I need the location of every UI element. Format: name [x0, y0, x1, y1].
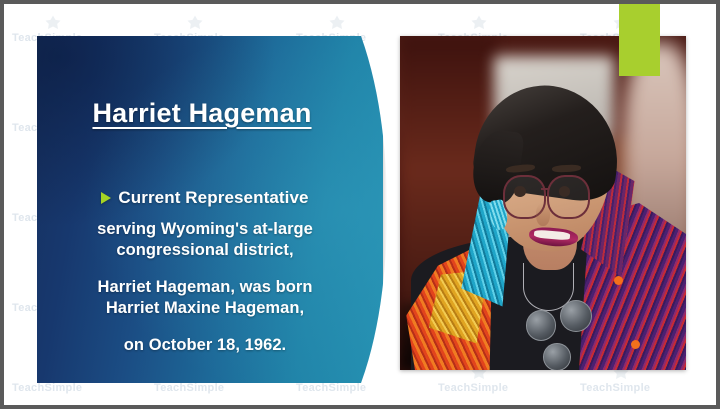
subject-nose: [536, 203, 550, 226]
watermark-text: TeachSimple: [438, 382, 508, 394]
subject-necklace-medallion: [526, 310, 557, 341]
paragraph-1: serving Wyoming's at-large congressional…: [37, 219, 373, 262]
subject-necklace-medallion: [543, 343, 571, 370]
info-panel: Harriet Hageman Current Representative s…: [37, 36, 383, 383]
paragraph-line: Harriet Maxine Hageman,: [43, 298, 367, 319]
photo-subject: [400, 36, 686, 370]
paragraph-line: Harriet Hageman, was born: [43, 277, 367, 298]
subject-eye-right: [559, 186, 570, 197]
watermark-text: TeachSimple: [12, 382, 82, 394]
bullet-label: Current Representative: [118, 188, 308, 208]
paragraph-2: Harriet Hageman, was born Harriet Maxine…: [37, 277, 373, 320]
watermark-logo-icon: [184, 14, 206, 34]
portrait-photo: [400, 36, 686, 370]
watermark-text: TeachSimple: [580, 382, 650, 394]
paragraph-line: on October 18, 1962.: [43, 335, 367, 356]
paragraph-line: congressional district,: [43, 240, 367, 261]
slide-frame: TeachSimpleTeachSimpleTeachSimpleTeachSi…: [0, 0, 720, 409]
bullet-line: Current Representative: [37, 188, 373, 208]
slide-canvas: TeachSimpleTeachSimpleTeachSimpleTeachSi…: [4, 4, 716, 405]
photo-inner: [400, 36, 686, 370]
watermark-text: TeachSimple: [296, 382, 366, 394]
watermark-text: TeachSimple: [154, 382, 224, 394]
watermark-logo-icon: [42, 14, 64, 34]
triangle-bullet-icon: [101, 192, 111, 204]
panel-content: Harriet Hageman Current Representative s…: [37, 36, 383, 383]
subject-eyeglass-lens-right: [547, 175, 590, 219]
paragraph-line: serving Wyoming's at-large: [43, 219, 367, 240]
watermark-logo-icon: [326, 14, 348, 34]
page-title: Harriet Hageman: [37, 98, 367, 129]
subject-eye-left: [514, 186, 525, 197]
paragraph-3: on October 18, 1962.: [37, 335, 373, 356]
green-accent-rectangle: [619, 4, 660, 76]
subject-necklace-medallion: [560, 300, 592, 332]
watermark-logo-icon: [468, 14, 490, 34]
subject-eyeglass-bridge: [541, 188, 550, 190]
body-text-block: Current Representative serving Wyoming's…: [37, 188, 373, 356]
